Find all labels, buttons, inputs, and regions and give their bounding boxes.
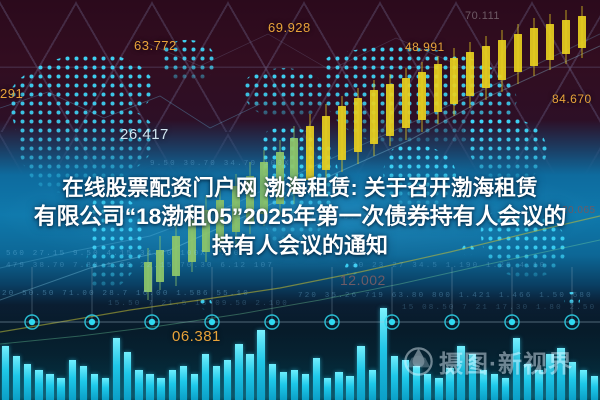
price-label: 84.670 — [552, 92, 592, 106]
news-banner-image: 560 27.15 9.50 4.15 34.70 100X 8.50479 3… — [0, 0, 600, 400]
watermark-text: 摄图·新视界 — [439, 344, 573, 379]
price-label: 12.002 — [340, 272, 386, 288]
price-label: 20.065 — [562, 205, 596, 216]
price-label: 06.381 — [172, 328, 221, 345]
price-label: 26.417 — [120, 126, 169, 143]
price-label: 69.928 — [268, 20, 311, 35]
price-label: 63.772 — [134, 38, 177, 53]
price-label: 70.111 — [465, 10, 500, 22]
price-label: 291 — [0, 86, 23, 101]
camera-aperture-icon — [404, 347, 433, 376]
price-labels: 29163.77269.92848.99170.11184.67026.4170… — [0, 0, 600, 400]
price-label: 48.991 — [405, 40, 445, 54]
watermark: 摄图·新视界 — [404, 344, 573, 379]
